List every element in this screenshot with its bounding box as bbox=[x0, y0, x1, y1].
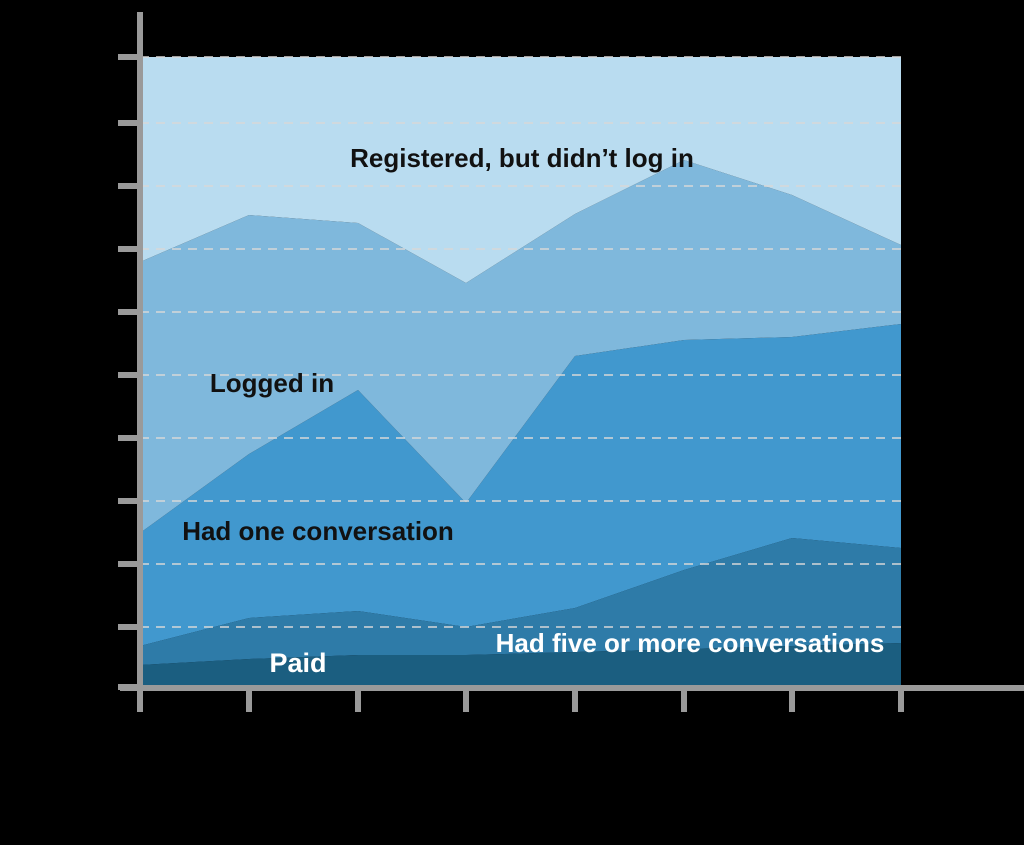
chart-canvas: PaidHad five or more conversationsHad on… bbox=[0, 0, 1024, 845]
series-label-had-five-or-more-conversations: Had five or more conversations bbox=[496, 628, 885, 658]
series-label-paid: Paid bbox=[269, 648, 326, 678]
series-label-had-one-conversation: Had one conversation bbox=[182, 516, 454, 546]
stacked-area-chart: PaidHad five or more conversationsHad on… bbox=[0, 0, 1024, 845]
series-label-logged-in: Logged in bbox=[210, 368, 334, 398]
series-label-registered-but-didn-t-log-in: Registered, but didn’t log in bbox=[350, 143, 694, 173]
